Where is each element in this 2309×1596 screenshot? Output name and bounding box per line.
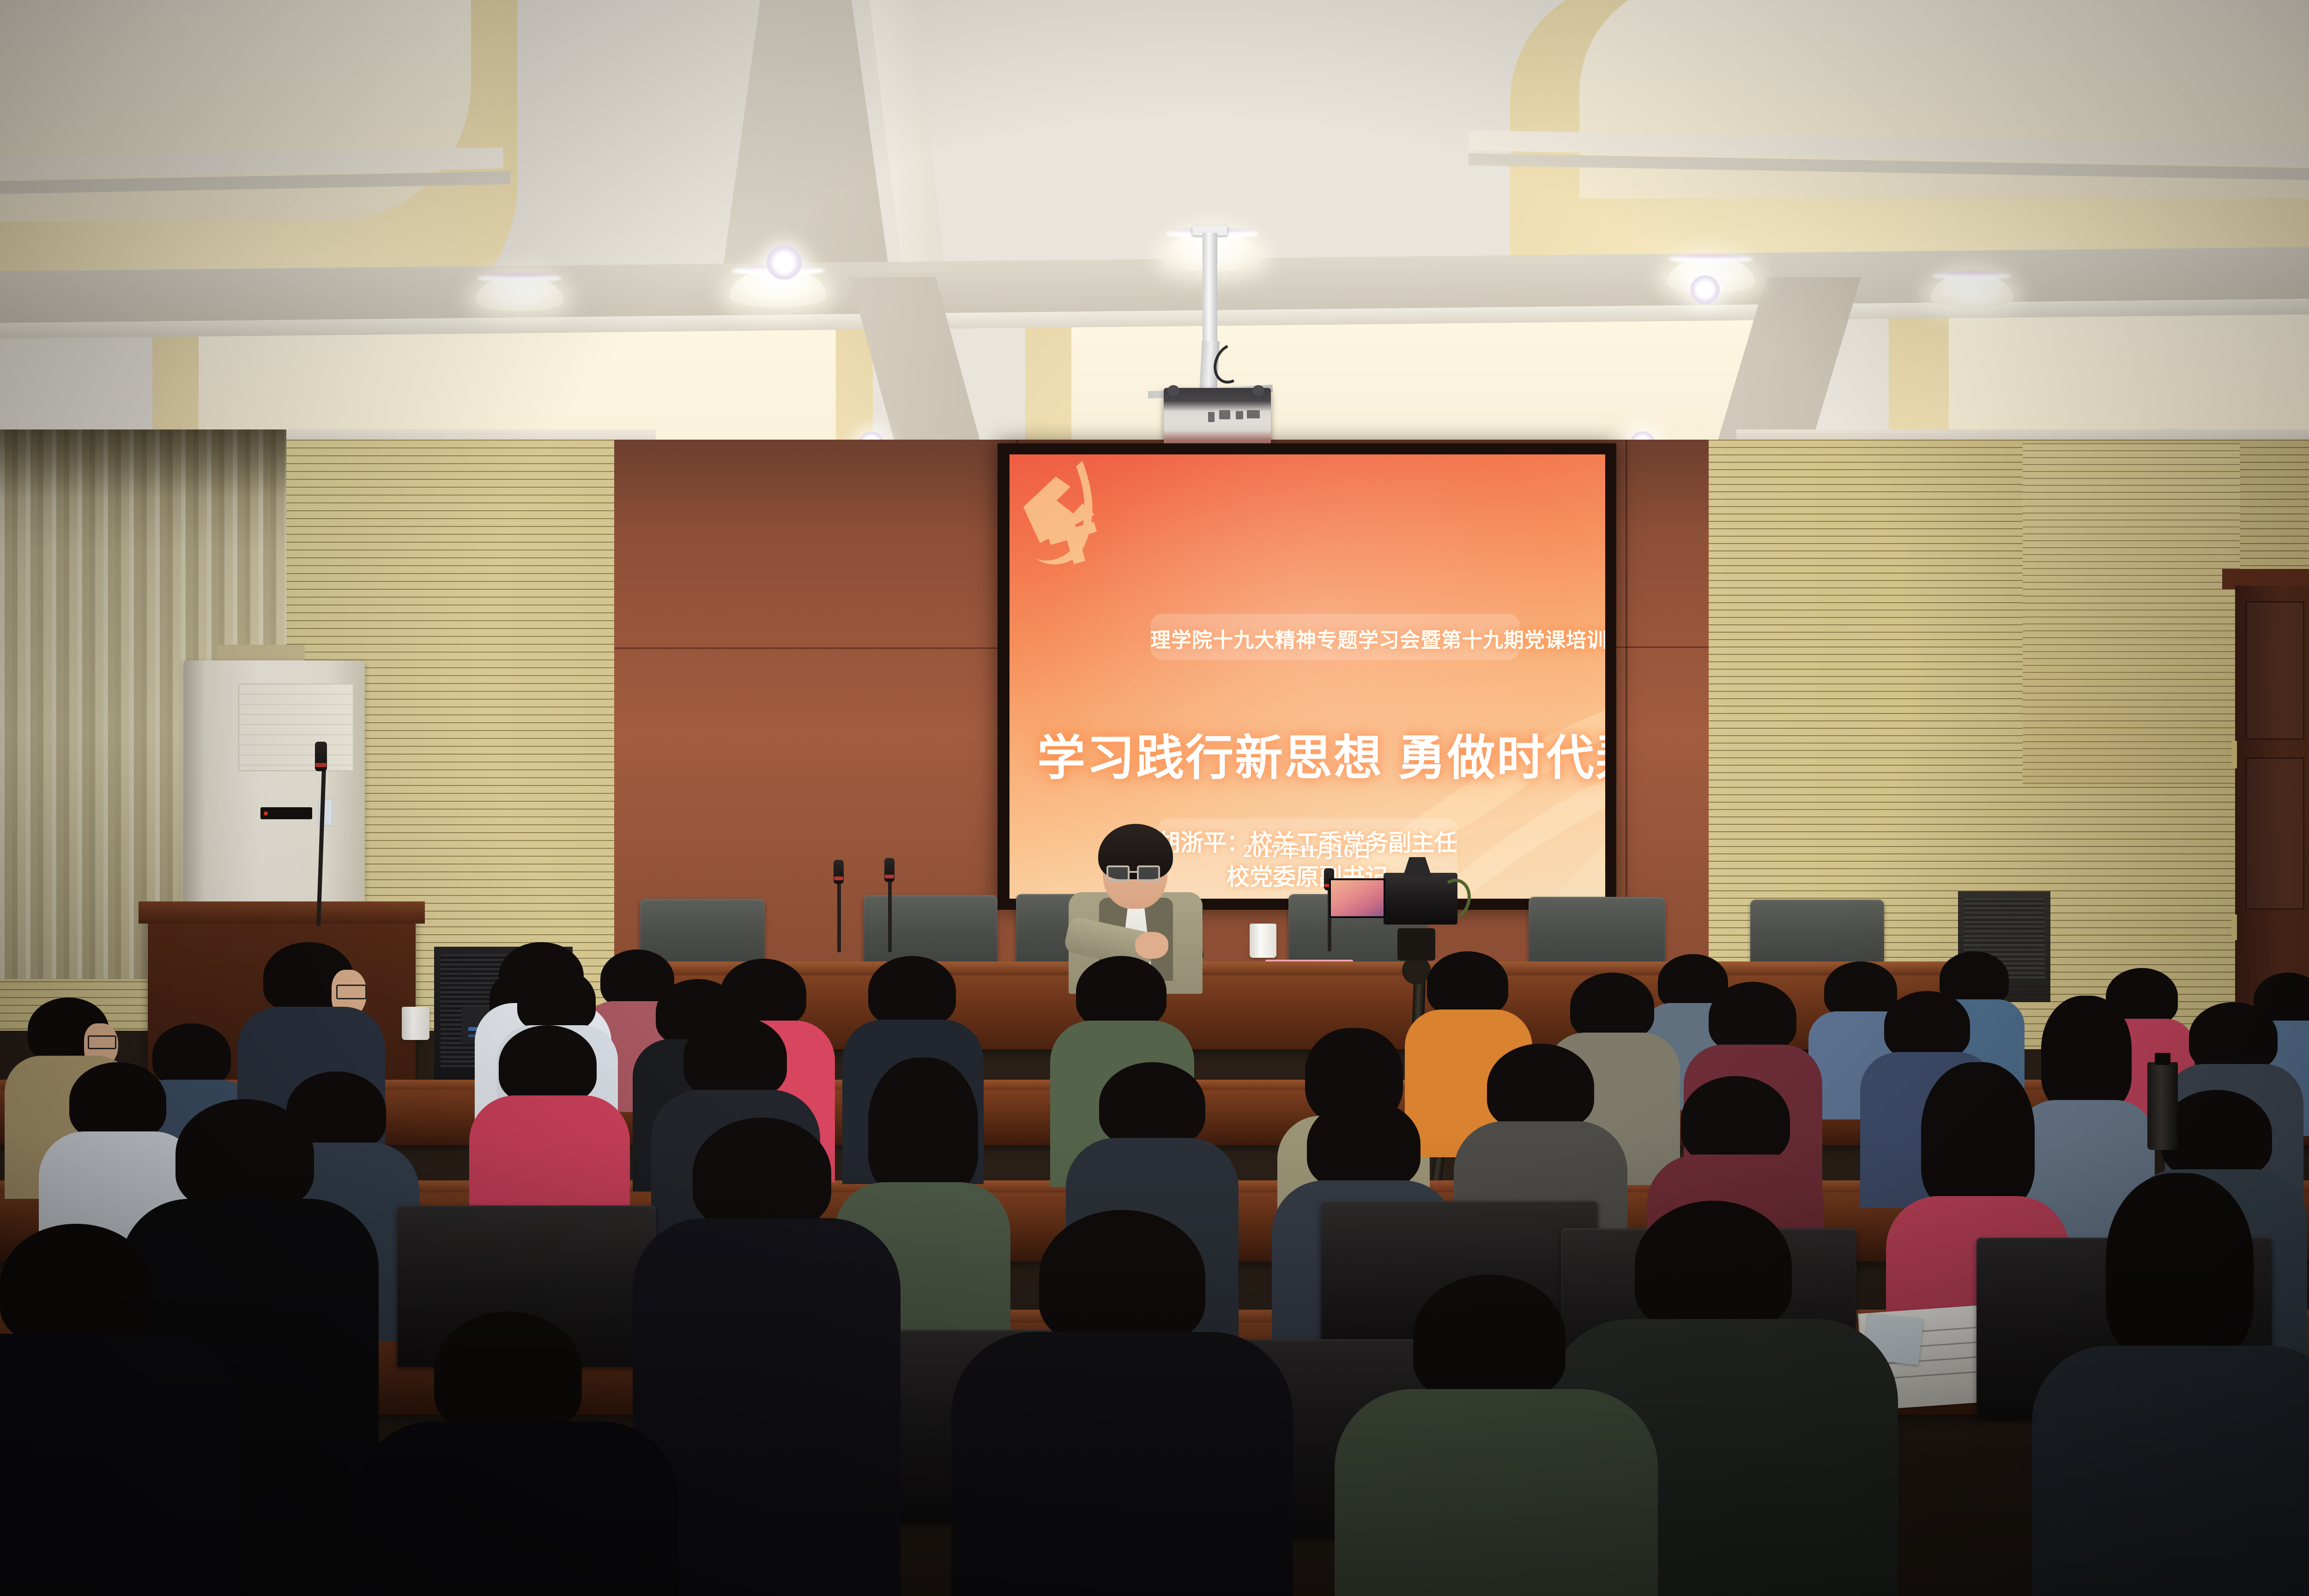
slide-title: 学习践行新思想 勇做时代弄潮儿: [1037, 719, 1582, 788]
slide-subtitle: 理学院十九大精神专题学习会暨第十九期党课培训班: [1150, 623, 1520, 653]
tripod-head: [1397, 928, 1435, 961]
podium-top-surface: [139, 901, 425, 924]
box-on-ac-unit: [217, 645, 305, 660]
ac-display: [260, 807, 312, 819]
door-handle[interactable]: [2231, 914, 2237, 940]
ceiling: [0, 0, 2309, 443]
audience-glasses: [336, 985, 367, 999]
door-handle[interactable]: [2231, 741, 2237, 768]
paper-cup[interactable]: [402, 1007, 429, 1040]
projector-mount-pole: [1203, 233, 1217, 350]
head-table-microphone: [831, 860, 847, 952]
ac-air-grille: [238, 683, 354, 771]
wall-panel-right-return: [2023, 443, 2240, 785]
audience-glasses: [88, 1035, 116, 1049]
ceiling-spot-light: [1690, 275, 1720, 304]
cpc-emblem-icon: [1012, 459, 1151, 584]
paper-cup[interactable]: [1250, 924, 1276, 958]
lecture-hall-photo: 理学院十九大精神专题学习会暨第十九期党课培训班 学习践行新思想 勇做时代弄潮儿 …: [0, 0, 2309, 1596]
ceiling-spot-light: [767, 246, 802, 280]
speaker-glasses: [1106, 865, 1130, 881]
podium-gooseneck-microphone: [312, 742, 331, 926]
camera-lcd-screen: [1329, 878, 1385, 918]
rostrum-front-lip: [617, 961, 1965, 977]
head-table-microphone: [882, 858, 898, 952]
water-bottle[interactable]: [2147, 1062, 2178, 1150]
projection-screen: 理学院十九大精神专题学习会暨第十九期党课培训班 学习践行新思想 勇做时代弄潮儿 …: [1009, 454, 1605, 899]
